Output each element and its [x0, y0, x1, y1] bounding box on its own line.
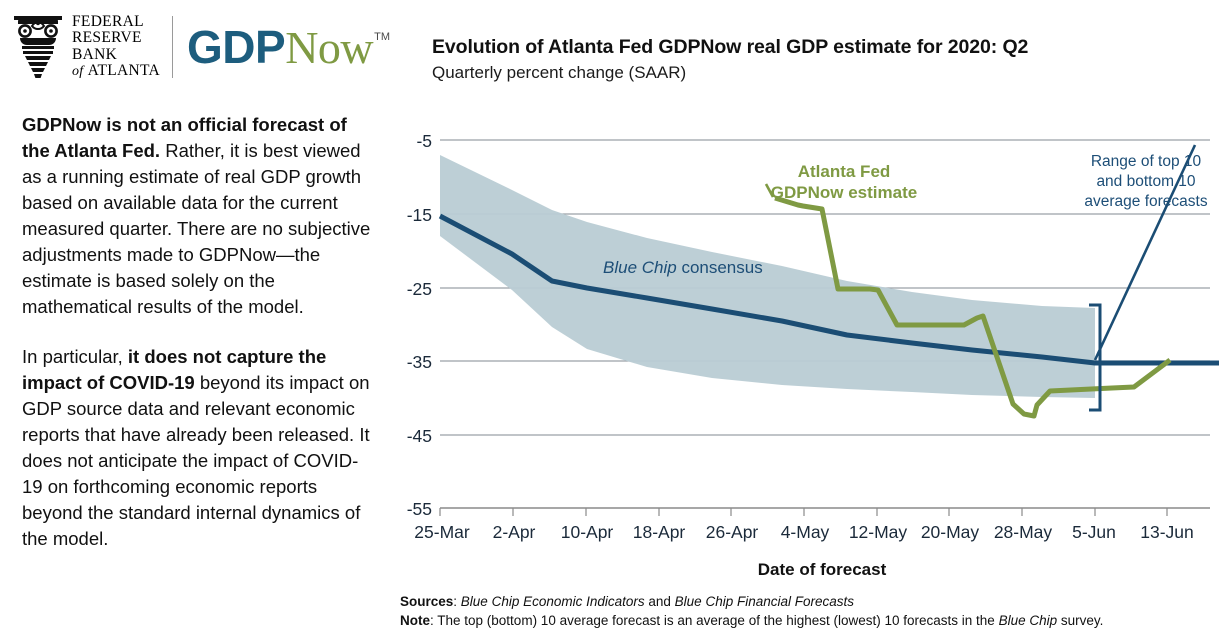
x-tick-label: 12-May — [849, 522, 908, 542]
logo-lockup: FEDERAL RESERVE BANK of ATLANTA GDPNowTM — [12, 8, 392, 86]
footnote-note-label: Note — [400, 613, 430, 628]
sidebar-paragraph-2-lead: In particular, — [22, 346, 128, 367]
sidebar-paragraph-1: GDPNow is not an official forecast of th… — [22, 112, 372, 320]
fed-line-2: RESERVE — [72, 30, 160, 47]
footnote-source-2: Blue Chip Financial Forecasts — [675, 594, 854, 609]
x-tick-label: 20-May — [921, 522, 980, 542]
range-annotation-line1: Range of top 10 — [1091, 153, 1202, 170]
y-tick-label: -25 — [407, 279, 432, 299]
x-tick-label: 18-Apr — [633, 522, 686, 542]
sidebar-paragraph-2-rest: beyond its impact on GDP source data and… — [22, 372, 370, 549]
footnote-note: Note: The top (bottom) 10 average foreca… — [400, 611, 1219, 630]
x-axis-title: Date of forecast — [758, 560, 887, 579]
sidebar-paragraph-2: In particular, it does not capture the i… — [22, 344, 372, 552]
x-tick-label: 13-Jun — [1140, 522, 1194, 542]
footnote-sources-sep: : — [453, 594, 461, 609]
sidebar-panel: FEDERAL RESERVE BANK of ATLANTA GDPNowTM… — [0, 0, 392, 642]
y-tick-label: -15 — [407, 205, 432, 225]
y-tick-label: -5 — [416, 131, 432, 151]
fed-line-4: of ATLANTA — [72, 63, 160, 81]
footnote-note-text-1: The top (bottom) 10 average forecast is … — [437, 613, 998, 628]
x-tick-label: 28-May — [994, 522, 1053, 542]
x-tick-label: 25-Mar — [414, 522, 470, 542]
chart-svg: -5 -15 -25 -35 -45 -55 25-Mar 2-Apr 10-A… — [392, 0, 1219, 642]
y-tick-label: -45 — [407, 426, 432, 446]
bluechip-annotation: Blue Chip consensus — [603, 258, 763, 277]
logo-divider — [172, 16, 173, 78]
x-tick-label: 4-May — [781, 522, 830, 542]
federal-reserve-seal-icon — [12, 12, 64, 82]
gdpnow-wordmark: GDPNowTM — [187, 24, 389, 71]
sidebar-paragraph-1-rest: Rather, it is best viewed as a running e… — [22, 140, 370, 317]
x-tick-label: 26-Apr — [706, 522, 759, 542]
federal-reserve-bank-wordmark: FEDERAL RESERVE BANK of ATLANTA — [72, 14, 160, 81]
gdpnow-wordmark-now: Now — [285, 22, 373, 73]
footnote-sources-label: Sources — [400, 594, 453, 609]
range-annotation-line2: and bottom 10 — [1096, 173, 1195, 190]
plot-area: -5 -15 -25 -35 -45 -55 25-Mar 2-Apr 10-A… — [392, 0, 1219, 642]
footnote-note-italic: Blue Chip — [999, 613, 1058, 628]
gdpnow-wordmark-gdp: GDP — [187, 21, 285, 73]
y-tick-label: -35 — [407, 352, 432, 372]
sidebar-description: GDPNow is not an official forecast of th… — [22, 112, 372, 576]
x-axis-ticks — [440, 508, 1167, 516]
x-tick-label: 10-Apr — [561, 522, 614, 542]
chart-panel: Evolution of Atlanta Fed GDPNow real GDP… — [392, 0, 1219, 642]
x-tick-label: 2-Apr — [493, 522, 536, 542]
gdpnow-chart-page: FEDERAL RESERVE BANK of ATLANTA GDPNowTM… — [0, 0, 1219, 642]
gdpnow-annotation-line2: GDPNow estimate — [771, 183, 917, 202]
bluechip-annotation-italic: Blue Chip — [603, 258, 677, 277]
x-tick-label: 5-Jun — [1072, 522, 1116, 542]
trademark-icon: TM — [374, 31, 390, 43]
footnote-sources: Sources: Blue Chip Economic Indicators a… — [400, 592, 1219, 611]
fed-line-1: FEDERAL — [72, 14, 160, 31]
footnote-source-1: Blue Chip Economic Indicators — [461, 594, 645, 609]
range-annotation-line3: average forecasts — [1084, 193, 1207, 210]
chart-footnotes: Sources: Blue Chip Economic Indicators a… — [400, 592, 1219, 630]
gdpnow-annotation-line1: Atlanta Fed — [798, 162, 891, 181]
footnote-note-text-2: survey. — [1057, 613, 1103, 628]
footnote-sources-mid: and — [645, 594, 675, 609]
fed-line-3: BANK — [72, 47, 160, 64]
bluechip-annotation-rest: consensus — [677, 258, 763, 277]
y-tick-label: -55 — [407, 499, 432, 519]
